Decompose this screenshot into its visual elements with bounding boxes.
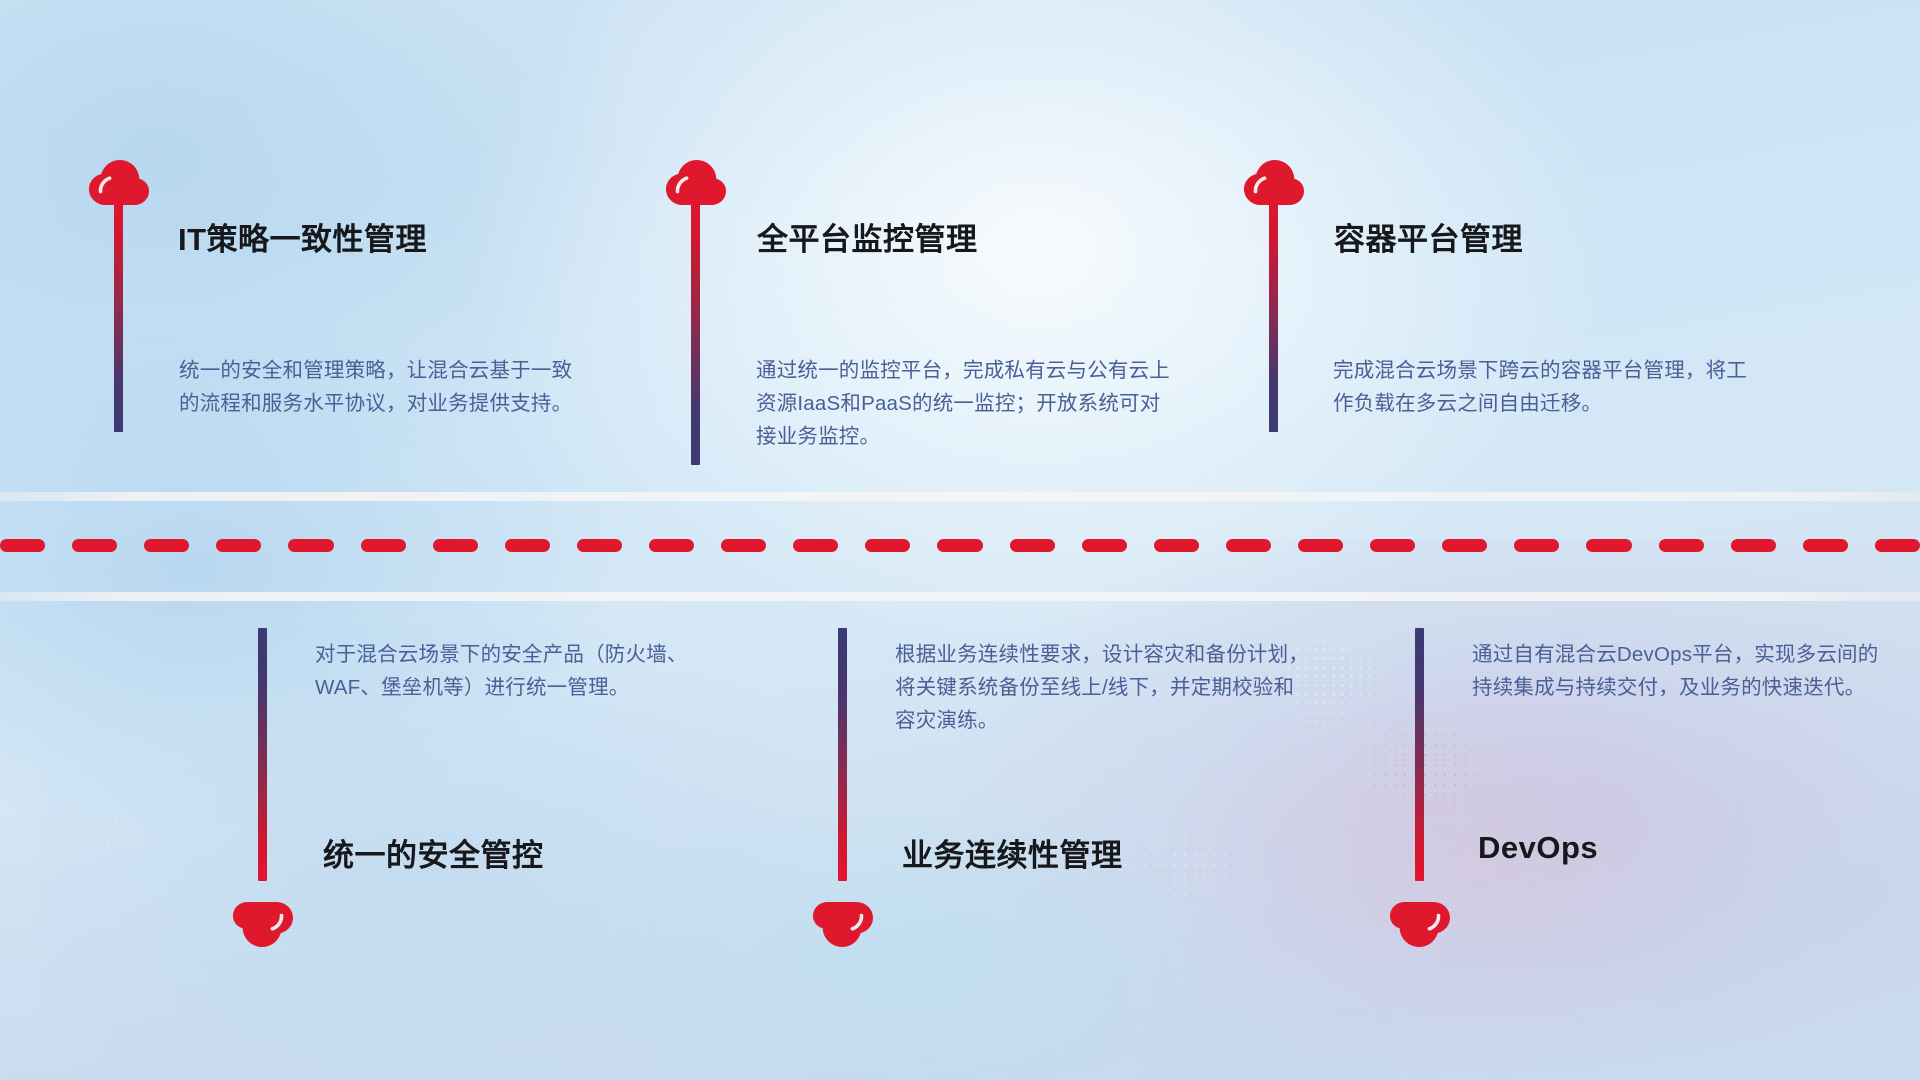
- connector-stem: [838, 628, 847, 881]
- cloud-pin-icon: [232, 896, 294, 947]
- infographic-canvas: IT策略一致性管理 统一的安全和管理策略，让混合云基于一致的流程和服务水平协议，…: [0, 0, 1920, 1080]
- road-dash: [1803, 539, 1848, 552]
- road-divider: [0, 492, 1920, 602]
- road-dash: [1514, 539, 1559, 552]
- road-dash: [72, 539, 117, 552]
- road-dash: [1442, 539, 1487, 552]
- item-title: 全平台监控管理: [757, 214, 978, 259]
- cloud-pin-icon: [1389, 896, 1451, 947]
- item-title: 容器平台管理: [1334, 214, 1523, 259]
- road-dash: [1226, 539, 1271, 552]
- road-dash: [1370, 539, 1415, 552]
- road-dash: [216, 539, 261, 552]
- item-description: 通过自有混合云DevOps平台，实现多云间的持续集成与持续交付，及业务的快速迭代…: [1472, 638, 1887, 704]
- road-dash: [721, 539, 766, 552]
- road-dash: [1659, 539, 1704, 552]
- road-dash: [577, 539, 622, 552]
- item-title: 统一的安全管控: [323, 830, 544, 875]
- item-title: DevOps: [1478, 830, 1598, 866]
- road-edge-bottom: [0, 592, 1920, 601]
- item-title: IT策略一致性管理: [178, 214, 427, 259]
- item-description: 对于混合云场景下的安全产品（防火墙、WAF、堡垒机等）进行统一管理。: [315, 638, 730, 704]
- road-dash: [865, 539, 910, 552]
- road-dash: [793, 539, 838, 552]
- connector-stem: [1269, 197, 1278, 432]
- road-dash: [1586, 539, 1631, 552]
- road-dash: [288, 539, 333, 552]
- road-edge-top: [0, 492, 1920, 501]
- connector-stem: [114, 197, 123, 432]
- item-title: 业务连续性管理: [902, 830, 1123, 875]
- road-dash: [0, 539, 45, 552]
- road-dash: [505, 539, 550, 552]
- connector-stem: [1415, 628, 1424, 881]
- road-dash: [649, 539, 694, 552]
- road-dash: [937, 539, 982, 552]
- road-centerline-dashes: [0, 538, 1920, 552]
- item-description: 统一的安全和管理策略，让混合云基于一致的流程和服务水平协议，对业务提供支持。: [179, 354, 591, 420]
- item-description: 通过统一的监控平台，完成私有云与公有云上资源IaaS和PaaS的统一监控；开放系…: [756, 354, 1176, 453]
- road-dash: [1082, 539, 1127, 552]
- item-description: 完成混合云场景下跨云的容器平台管理，将工作负载在多云之间自由迁移。: [1333, 354, 1753, 420]
- connector-stem: [258, 628, 267, 881]
- road-dash: [1875, 539, 1920, 552]
- road-dash: [433, 539, 478, 552]
- item-description: 根据业务连续性要求，设计容灾和备份计划，将关键系统备份至线上/线下，并定期校验和…: [895, 638, 1310, 737]
- road-dash: [1298, 539, 1343, 552]
- cloud-pin-icon: [812, 896, 874, 947]
- connector-stem: [691, 197, 700, 465]
- road-dash: [144, 539, 189, 552]
- road-dash: [361, 539, 406, 552]
- road-dash: [1010, 539, 1055, 552]
- road-dash: [1154, 539, 1199, 552]
- road-dash: [1731, 539, 1776, 552]
